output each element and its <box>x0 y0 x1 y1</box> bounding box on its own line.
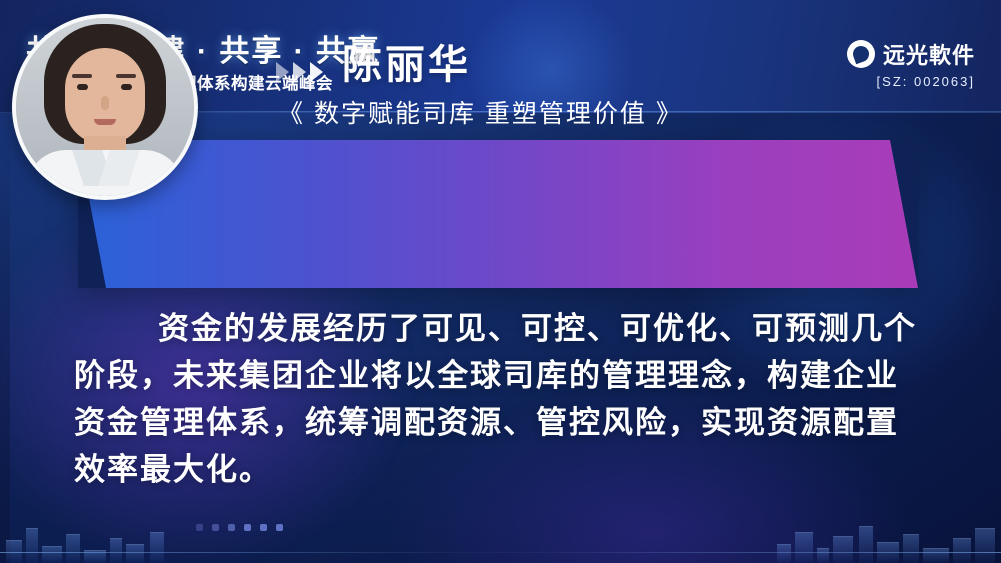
triple-chevron-right-icon <box>276 62 323 82</box>
brand-block: 远光軟件 [SZ: 002063] <box>847 38 975 89</box>
portrait-eye-left <box>77 84 88 90</box>
brand-name: 远光軟件 <box>883 38 975 70</box>
portrait-nose <box>101 96 109 110</box>
speaker-topic: 《 数字赋能司库 重塑管理价值 》 <box>278 94 683 130</box>
panel-corner-right <box>890 140 918 288</box>
skyline-left-group <box>0 511 190 563</box>
portrait-mouth <box>94 119 116 125</box>
brand-row: 远光軟件 <box>847 38 975 70</box>
speaker-portrait <box>12 14 198 200</box>
skyline-right-group <box>771 511 1001 563</box>
portrait-brow-left <box>72 74 92 78</box>
city-skyline-icon <box>0 511 1001 563</box>
portrait-brow-right <box>116 74 136 78</box>
quote-text: 资金的发展经历了可见、可控、可优化、可预测几个阶段，未来集团企业将以全球司库的管… <box>74 305 922 493</box>
edge-shadow <box>0 112 10 563</box>
speaker-name: 陈丽华 <box>342 32 471 90</box>
portrait-eye-right <box>121 84 132 90</box>
yuanguang-logo-icon <box>847 40 875 68</box>
speaker-panel <box>78 140 918 288</box>
stock-code: [SZ: 002063] <box>877 74 975 89</box>
slide-canvas: 共生 · 共建 · 共享 · 共赢 助力世界一流财务管理体系构建云端峰会 远光軟… <box>0 0 1001 563</box>
